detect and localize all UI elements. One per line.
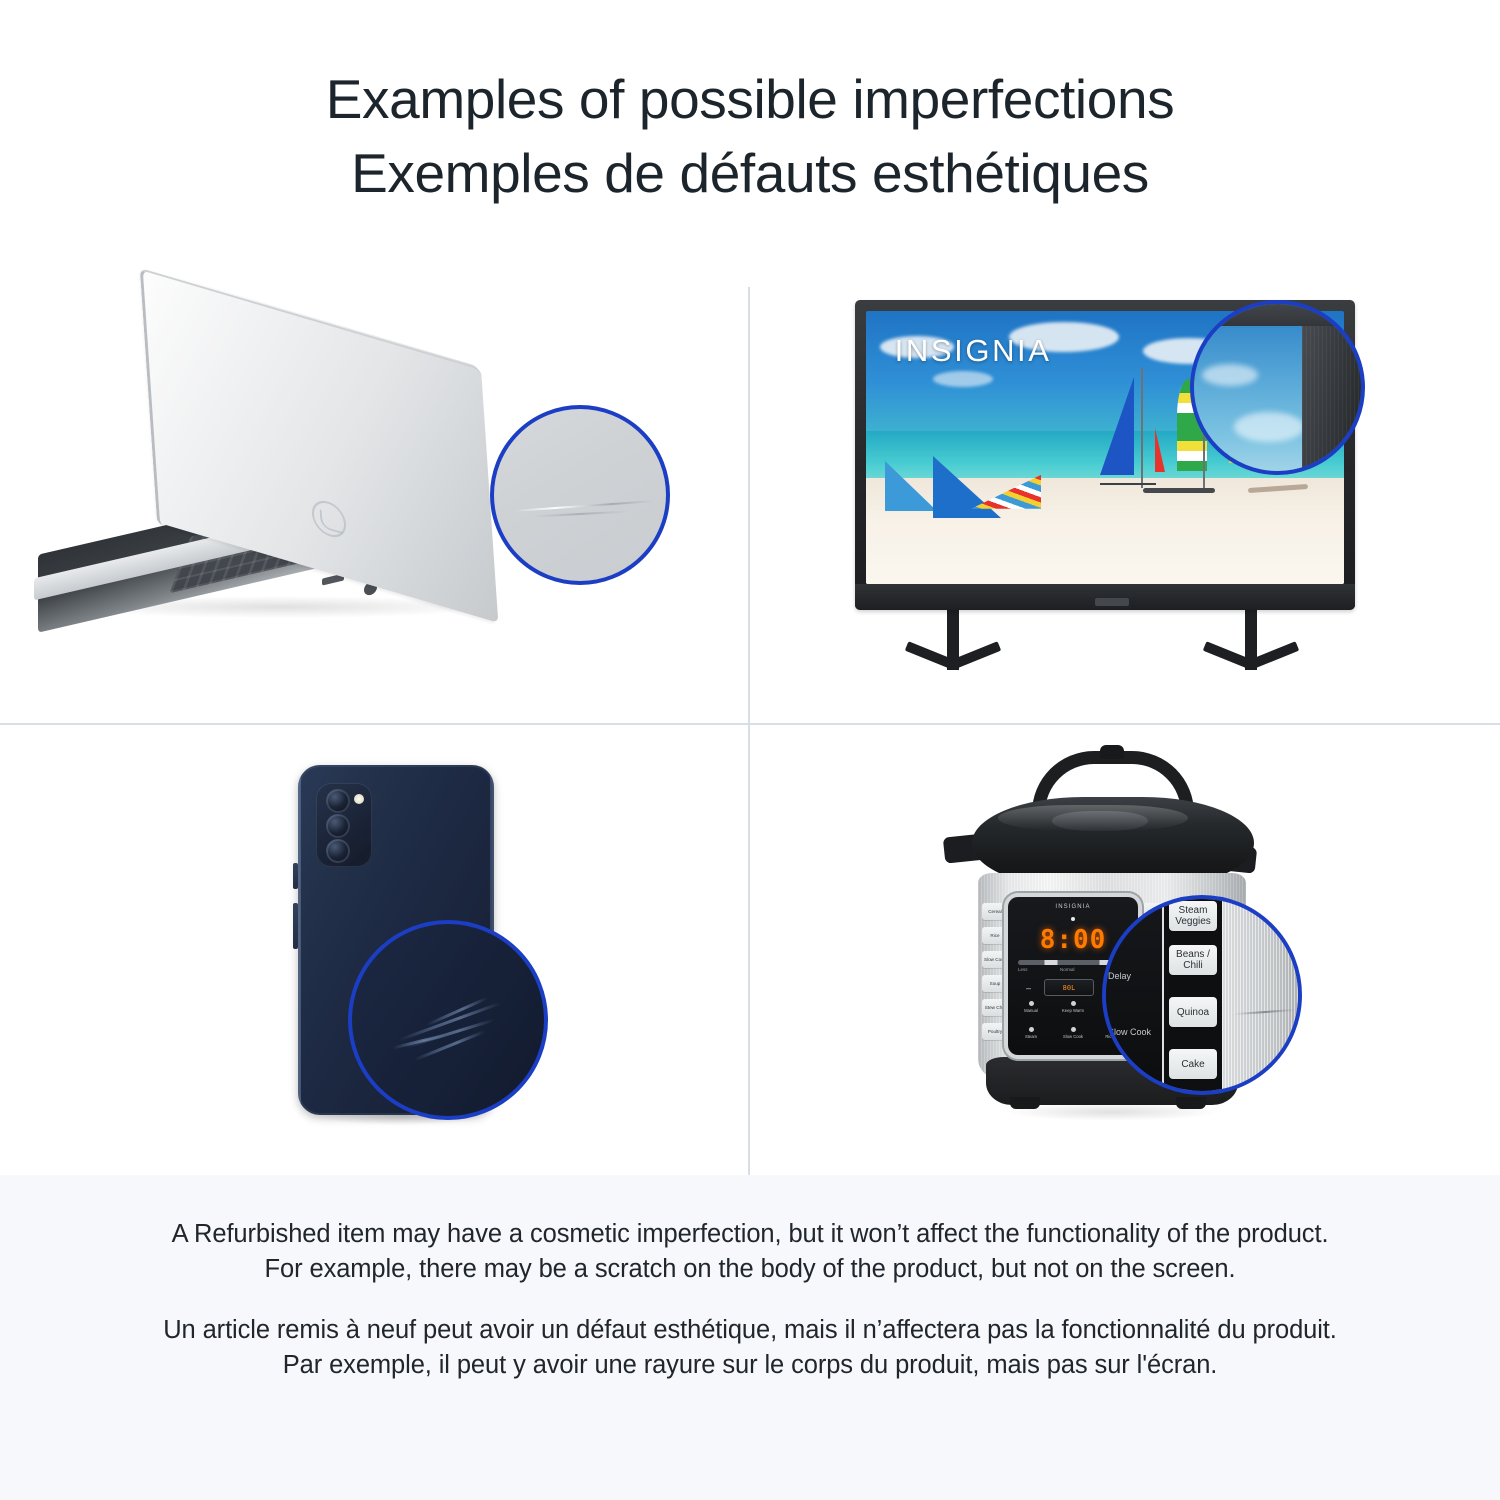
slider-label-less: Less xyxy=(1018,967,1028,972)
laptop-scratch-mark xyxy=(514,500,654,512)
sail-blue-icon xyxy=(1100,377,1134,475)
smartphone-illustration xyxy=(290,765,510,1135)
examples-grid: INSIGNIA xyxy=(0,265,1500,1175)
cooker-button-stew-chili[interactable]: Stew Chili xyxy=(982,999,1008,1016)
cooker-button-slowcook-panel[interactable]: Slow Cook xyxy=(1058,1027,1088,1039)
smartphone-power-button[interactable] xyxy=(293,863,298,889)
pressure-cooker-foot-right xyxy=(1176,1097,1206,1109)
pressure-cooker-steam-knob xyxy=(1100,745,1124,759)
camera-lens-icon xyxy=(326,789,350,813)
smartphone-volume-button[interactable] xyxy=(293,903,298,949)
laptop-magnifier-circle xyxy=(490,405,670,585)
magnified-button-steam-veggies[interactable]: Steam Veggies xyxy=(1169,901,1217,931)
cooker-button-cereal[interactable]: Cereal xyxy=(982,903,1008,920)
laptop-scratch-mark-secondary xyxy=(532,510,628,517)
sail-red-icon xyxy=(1155,428,1165,472)
laptop-example xyxy=(0,265,748,723)
cooker-indicator-led xyxy=(1071,917,1075,921)
television-leg-right xyxy=(1245,608,1257,670)
page-title-french: Exemples de défauts esthétiques xyxy=(0,136,1500,210)
camera-lens-icon xyxy=(326,839,350,863)
pressure-cooker-foot-left xyxy=(1010,1097,1040,1109)
pressure-cooker-illustration: Cereal Rice Slow Cook Soup Stew Chili Po… xyxy=(940,745,1300,1155)
camera-flash-icon xyxy=(354,794,364,804)
refurbished-imperfections-infographic: Examples of possible imperfections Exemp… xyxy=(0,0,1500,1500)
camera-lens-icon xyxy=(326,814,350,838)
magnified-steel-surface xyxy=(1222,899,1302,1095)
cooker-button-keep-warm[interactable]: Keep Warm xyxy=(1058,1001,1088,1013)
smartphone-magnifier-circle xyxy=(348,920,548,1120)
laptop-illustration xyxy=(30,320,590,650)
magnified-button-quinoa[interactable]: Quinoa xyxy=(1169,997,1217,1027)
page-title: Examples of possible imperfections Exemp… xyxy=(0,62,1500,210)
cooker-button-soup[interactable]: Soup xyxy=(982,975,1008,992)
television-ir-sensor-icon xyxy=(1095,598,1129,606)
cloud-icon xyxy=(933,371,993,387)
cooker-button-steam-label: Steam xyxy=(1025,1034,1037,1039)
pressure-cooker-magnifier-circle: Delay Slow Cook Steam Veggies Beans / Ch… xyxy=(1102,895,1302,1095)
cloud-icon xyxy=(1234,412,1304,442)
description-panel: A Refurbished item may have a cosmetic i… xyxy=(0,1175,1500,1500)
magnified-bezel-top xyxy=(1194,304,1365,326)
cooker-button-poultry[interactable]: Poultry xyxy=(982,1023,1008,1040)
television-leg-left xyxy=(947,608,959,670)
sailboat-boom-icon xyxy=(1100,483,1156,485)
cooker-button-manual[interactable]: Manual xyxy=(1016,1001,1046,1013)
boat-hull-icon xyxy=(1143,488,1215,493)
cooker-button-slowcook-panel-label: Slow Cook xyxy=(1063,1034,1083,1039)
smartphone-camera-module xyxy=(316,783,372,867)
smartphone-scratch-mark xyxy=(392,1034,445,1050)
television-bottom-bezel xyxy=(855,584,1355,610)
pressure-cooker-lid-highlight xyxy=(998,805,1188,831)
cooker-time-display: 8:00 xyxy=(1040,925,1107,955)
smartphone-example xyxy=(0,725,748,1175)
television-screen-logo: INSIGNIA xyxy=(895,333,1052,369)
television-example: INSIGNIA xyxy=(750,265,1500,723)
magnified-screen-area xyxy=(1194,304,1302,475)
magnified-label-delay: Delay xyxy=(1108,971,1131,982)
cooker-button-rice[interactable]: Rice xyxy=(982,927,1008,944)
magnified-button-beans-chili[interactable]: Beans / Chili xyxy=(1169,945,1217,975)
cooker-button-slow-cook[interactable]: Slow Cook xyxy=(982,951,1008,968)
magnified-control-panel: Delay Slow Cook xyxy=(1106,899,1162,1095)
television-magnifier-circle xyxy=(1190,300,1365,475)
magnified-label-slow-cook: Slow Cook xyxy=(1108,1027,1151,1038)
magnified-bezel-texture xyxy=(1302,304,1365,475)
cooker-button-manual-label: Manual xyxy=(1024,1008,1038,1013)
cloud-icon xyxy=(1202,364,1258,386)
cooker-button-steam[interactable]: Steam xyxy=(1016,1027,1046,1039)
pressure-cooker-left-button-column: Cereal Rice Slow Cook Soup Stew Chili Po… xyxy=(982,897,1008,1055)
cooker-mini-display-value: 80L xyxy=(1045,984,1093,992)
sailboat-mast-icon xyxy=(1141,368,1143,488)
cooker-minus-button[interactable]: – xyxy=(1026,983,1031,993)
slider-label-normal: Normal xyxy=(1060,967,1075,972)
television-illustration: INSIGNIA xyxy=(855,300,1375,690)
pressure-cooker-example: Cereal Rice Slow Cook Soup Stew Chili Po… xyxy=(750,725,1500,1175)
sail-beached-left-icon xyxy=(885,461,937,511)
page-title-english: Examples of possible imperfections xyxy=(0,62,1500,136)
magnified-button-column: Steam Veggies Beans / Chili Quinoa Cake xyxy=(1164,899,1222,1095)
cooker-mini-display: 80L xyxy=(1044,979,1094,996)
description-english: A Refurbished item may have a cosmetic i… xyxy=(150,1217,1350,1287)
cooker-button-keep-warm-label: Keep Warm xyxy=(1062,1008,1084,1013)
description-french: Un article remis à neuf peut avoir un dé… xyxy=(150,1313,1350,1383)
magnified-button-cake[interactable]: Cake xyxy=(1169,1049,1217,1079)
